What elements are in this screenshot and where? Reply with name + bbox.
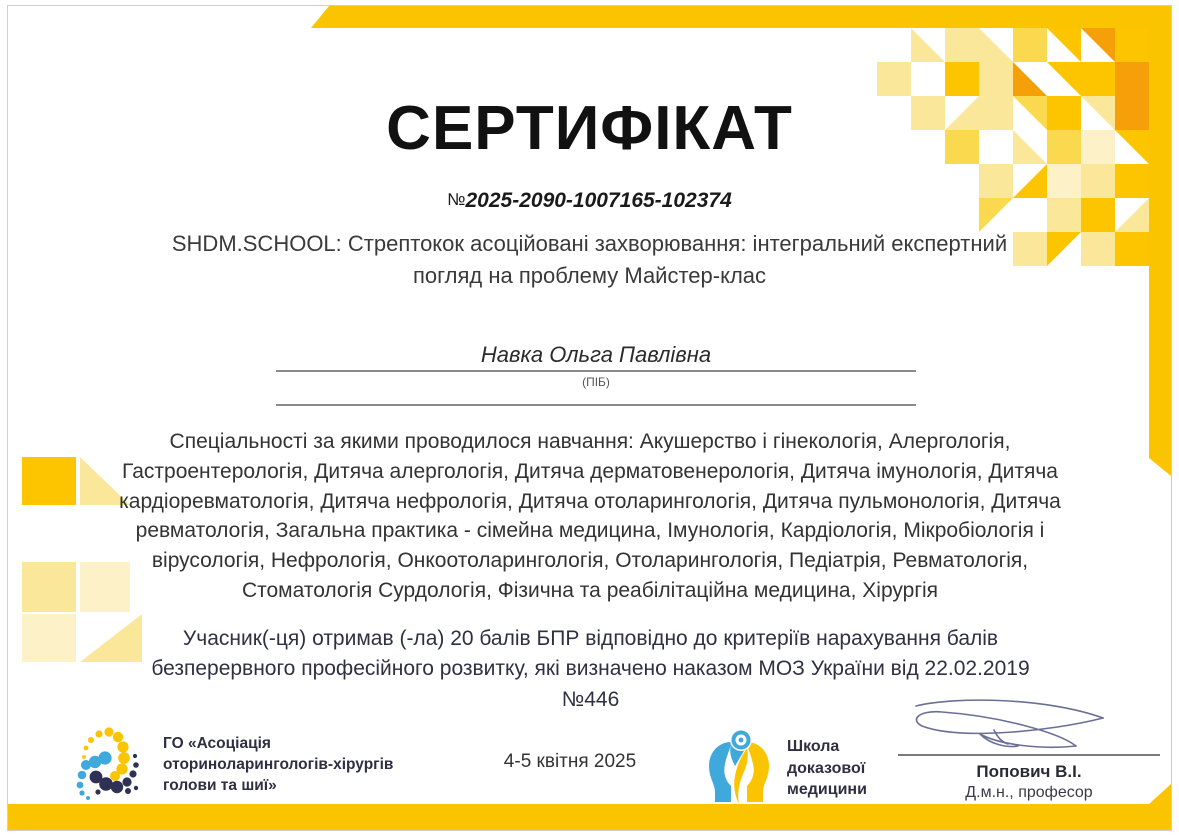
certificate-sheet: СЕРТИФІКАТ №2025-2090-1007165-102374 SHD… bbox=[8, 6, 1171, 830]
signatory-name: Попович В.І. bbox=[898, 762, 1160, 782]
recipient-name: Навка Ольга Павлівна bbox=[276, 342, 916, 370]
course-title: SHDM.SCHOOL: Стрептокок асоційовані захв… bbox=[148, 228, 1031, 292]
recipient-field-label: (ПІБ) bbox=[276, 375, 916, 389]
recipient-field: Навка Ольга Павлівна (ПІБ) bbox=[276, 342, 916, 389]
signatory-role: Д.м.н., професор bbox=[898, 784, 1160, 802]
signature-block: Попович В.І. Д.м.н., професор bbox=[898, 692, 1160, 802]
association-name: ГО «Асоціація оториноларингологів-хірург… bbox=[163, 734, 393, 797]
page-title: СЕРТИФІКАТ bbox=[8, 98, 1171, 160]
secondary-field bbox=[276, 404, 916, 406]
specialties-text: Спеціальності за якими проводилося навча… bbox=[116, 427, 1064, 606]
secondary-rule bbox=[276, 404, 916, 406]
association-logo-icon bbox=[65, 720, 151, 811]
number-sign: № bbox=[447, 190, 465, 209]
certificate-number-value: 2025-2090-1007165-102374 bbox=[466, 189, 732, 212]
certificate-number: №2025-2090-1007165-102374 bbox=[8, 189, 1171, 213]
signature-mark-icon bbox=[898, 692, 1160, 754]
event-date: 4-5 квітня 2025 bbox=[460, 751, 680, 773]
certificate-page: СЕРТИФІКАТ №2025-2090-1007165-102374 SHD… bbox=[0, 0, 1179, 836]
school-name: Школа доказової медицини bbox=[787, 736, 867, 801]
recipient-rule bbox=[276, 370, 916, 372]
school-block: Школа доказової медицини bbox=[701, 722, 867, 815]
school-logo-icon bbox=[701, 722, 777, 815]
association-block: ГО «Асоціація оториноларингологів-хірург… bbox=[65, 720, 393, 811]
signature-rule bbox=[898, 754, 1160, 756]
certificate-content: СЕРТИФІКАТ №2025-2090-1007165-102374 SHD… bbox=[8, 6, 1171, 830]
